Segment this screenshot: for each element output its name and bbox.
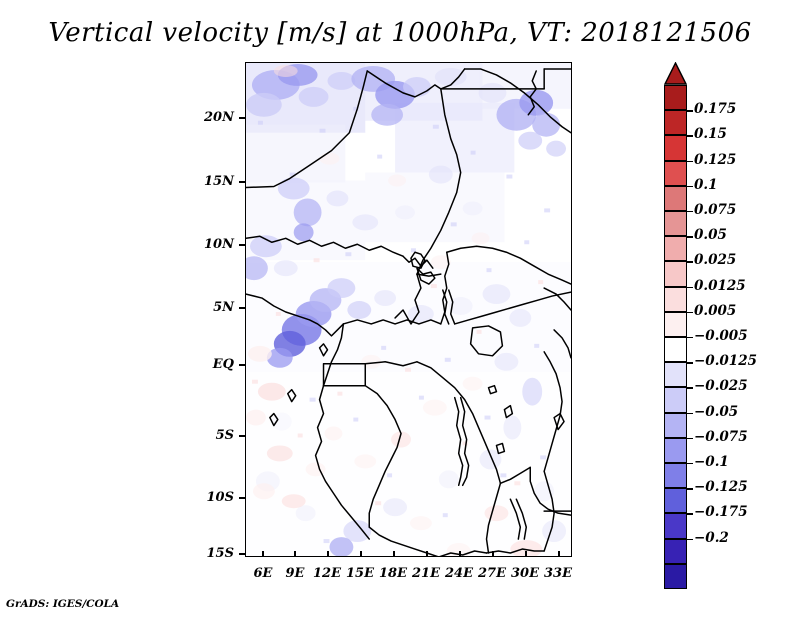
colorbar-label-17: −0.2 (694, 530, 729, 546)
colorbar-tick-11 (687, 387, 693, 388)
colorbar-label-8: 0.005 (694, 303, 736, 319)
lon-tick-9E (294, 551, 296, 557)
colorbar-tick-2 (687, 161, 693, 162)
colorbar-swatch-1 (664, 110, 687, 135)
colorbar-tick-15 (687, 488, 693, 489)
lat-tick-15S (239, 553, 245, 555)
colorbar-swatch-16 (664, 488, 687, 513)
colorbar-swatch-7 (664, 261, 687, 286)
colorbar-label-15: −0.125 (694, 479, 748, 495)
lat-tick-EQ (239, 364, 245, 366)
lat-label-10S: 10S (190, 490, 234, 505)
colorbar-label-16: −0.175 (694, 504, 748, 520)
colorbar-tick-14 (687, 463, 693, 464)
colorbar-tick-0 (687, 110, 693, 111)
lat-tick-20N (239, 117, 245, 119)
lat-label-5N: 5N (190, 300, 234, 315)
colorbar-swatch-19 (664, 564, 687, 589)
colorbar-swatch-15 (664, 463, 687, 488)
map-plot-svg (246, 63, 571, 556)
colorbar-tick-12 (687, 413, 693, 414)
colorbar-tick-3 (687, 186, 693, 187)
colorbar-label-10: −0.0125 (694, 353, 757, 369)
lon-label-33E: 33E (538, 566, 578, 581)
colorbar-swatch-10 (664, 337, 687, 362)
velocity-field (246, 63, 571, 556)
lon-tick-6E (262, 551, 264, 557)
lat-label-5S: 5S (190, 428, 234, 443)
colorbar-label-4: 0.075 (694, 202, 736, 218)
colorbar-swatch-5 (664, 211, 687, 236)
colorbar-tick-8 (687, 312, 693, 313)
colorbar-swatch-4 (664, 186, 687, 211)
lon-tick-21E (426, 551, 428, 557)
colorbar-swatch-18 (664, 539, 687, 564)
lon-tick-12E (327, 551, 329, 557)
colorbar-swatch-8 (664, 287, 687, 312)
lat-tick-10N (239, 244, 245, 246)
colorbar-tick-13 (687, 438, 693, 439)
colorbar-swatch-12 (664, 387, 687, 412)
colorbar-swatch-6 (664, 236, 687, 261)
colorbar-swatch-14 (664, 438, 687, 463)
colorbar-tick-9 (687, 337, 693, 338)
map-panel[interactable] (245, 62, 572, 557)
colorbar-label-6: 0.025 (694, 252, 736, 268)
lon-tick-15E (360, 551, 362, 557)
colorbar-swatch-13 (664, 413, 687, 438)
lat-tick-5S (239, 435, 245, 437)
colorbar-tick-7 (687, 287, 693, 288)
colorbar-tick-5 (687, 236, 693, 237)
colorbar-arrow-max (664, 62, 687, 85)
lon-tick-18E (393, 551, 395, 557)
lat-label-10N: 10N (190, 237, 234, 252)
lat-label-15S: 15S (190, 546, 234, 561)
colorbar-label-12: −0.05 (694, 404, 738, 420)
colorbar-label-3: 0.1 (694, 177, 718, 193)
lat-tick-15N (239, 181, 245, 183)
colorbar-label-14: −0.1 (694, 454, 729, 470)
colorbar-tick-4 (687, 211, 693, 212)
lon-tick-27E (492, 551, 494, 557)
colorbar-swatch-2 (664, 135, 687, 160)
colorbar-label-0: 0.175 (694, 101, 736, 117)
colorbar-swatch-0 (664, 85, 687, 110)
colorbar-label-1: 0.15 (694, 126, 727, 142)
colorbar-tick-1 (687, 135, 693, 136)
colorbar-swatch-11 (664, 362, 687, 387)
lon-tick-24E (459, 551, 461, 557)
colorbar-swatch-9 (664, 312, 687, 337)
colorbar-swatch-3 (664, 161, 687, 186)
colorbar-label-2: 0.125 (694, 152, 736, 168)
lat-label-15N: 15N (190, 174, 234, 189)
colorbar-swatch-17 (664, 513, 687, 538)
attribution-text: GrADS: IGES/COLA (6, 598, 119, 610)
colorbar-label-9: −0.005 (694, 328, 748, 344)
colorbar-label-13: −0.075 (694, 429, 748, 445)
colorbar-label-11: −0.025 (694, 378, 748, 394)
colorbar-tick-10 (687, 362, 693, 363)
lat-tick-5N (239, 307, 245, 309)
page-title: Vertical velocity [m/s] at 1000hPa, VT: … (0, 18, 800, 48)
colorbar-tick-6 (687, 261, 693, 262)
colorbar-label-5: 0.05 (694, 227, 727, 243)
lat-label-EQ: EQ (190, 357, 234, 372)
colorbar-tick-17 (687, 539, 693, 540)
colorbar-label-7: 0.0125 (694, 278, 746, 294)
lat-tick-10S (239, 497, 245, 499)
lat-label-20N: 20N (190, 110, 234, 125)
colorbar[interactable]: 0.1750.150.1250.10.0750.050.0250.01250.0… (664, 62, 794, 562)
colorbar-tick-16 (687, 513, 693, 514)
lon-tick-30E (525, 551, 527, 557)
lon-tick-33E (558, 551, 560, 557)
